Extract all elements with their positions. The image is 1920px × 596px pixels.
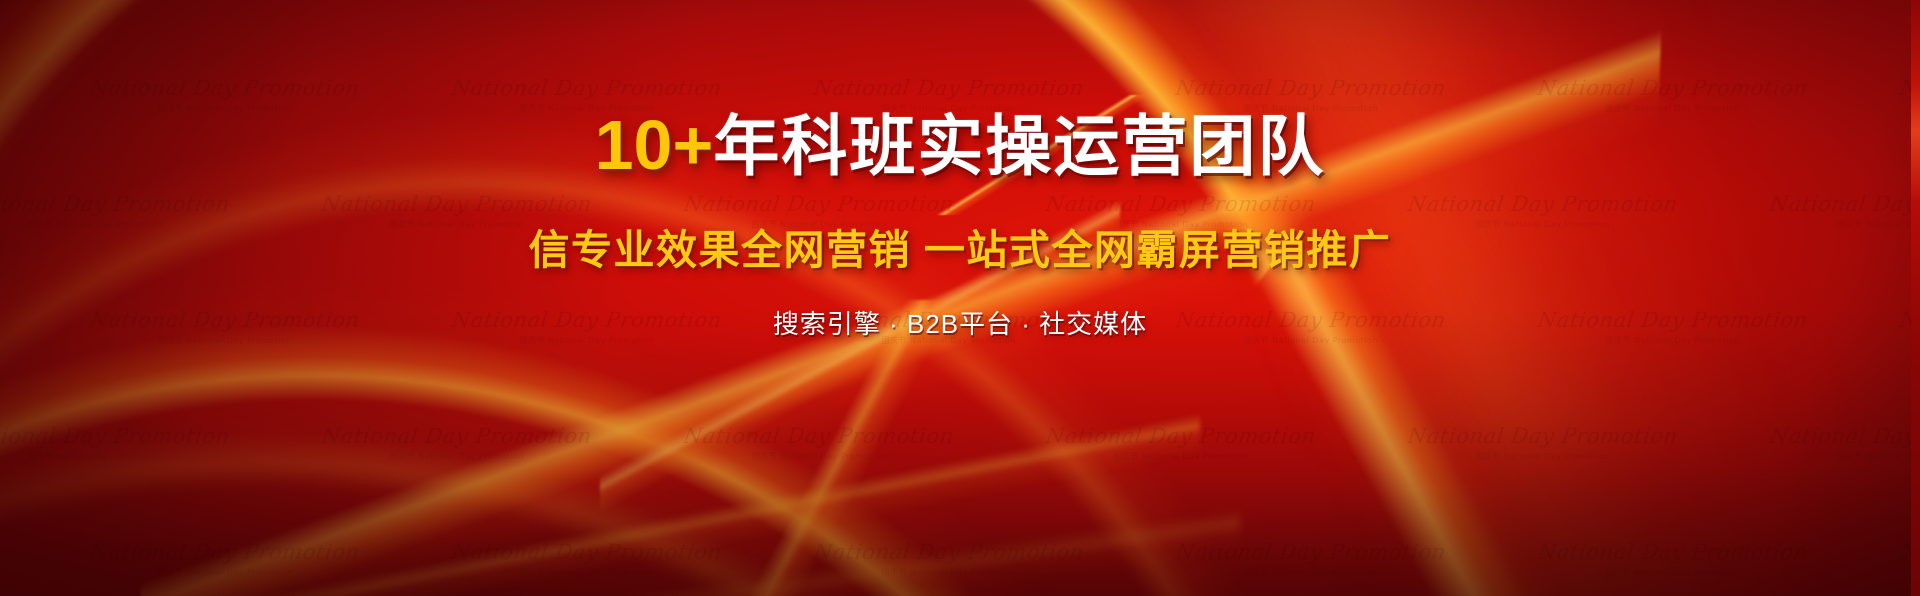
- headline-text: 年科班实操运营团队: [713, 109, 1325, 183]
- right-edge-sliver: [1911, 0, 1920, 596]
- headline: 10+年科班实操运营团队: [0, 108, 1920, 182]
- tag-list: 搜索引擎 · B2B平台 · 社交媒体: [0, 304, 1920, 341]
- promo-banner: National Day Promotion国庆节 National Day P…: [0, 0, 1920, 596]
- banner-text-block: 10+年科班实操运营团队 信专业效果全网营销 一站式全网霸屏营销推广 搜索引擎 …: [0, 108, 1920, 341]
- headline-number: 10+: [595, 106, 714, 184]
- subheadline: 信专业效果全网营销 一站式全网霸屏营销推广: [0, 216, 1920, 276]
